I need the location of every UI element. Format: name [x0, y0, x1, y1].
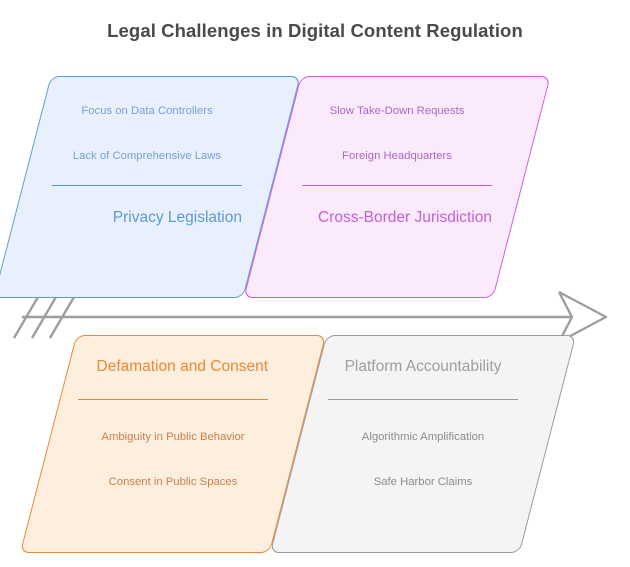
card-defamation-item-1: Ambiguity in Public Behavior [78, 430, 268, 445]
card-defamation-and-consent[interactable]: Defamation and Consent Ambiguity in Publ… [48, 335, 298, 553]
spacer [78, 400, 268, 430]
card-platform-heading: Platform Accountability [328, 357, 518, 377]
card-platform-item-2: Safe Harbor Claims [328, 475, 518, 490]
card-defamation-heading: Defamation and Consent [78, 357, 268, 377]
spacer [52, 119, 242, 149]
card-privacy-item-1: Focus on Data Controllers [52, 104, 242, 119]
diagram-canvas: Legal Challenges in Digital Content Regu… [0, 0, 630, 567]
card-privacy-heading: Privacy Legislation [52, 208, 242, 228]
spacer [328, 445, 518, 475]
spacer [78, 377, 268, 399]
card-privacy-legislation[interactable]: Focus on Data Controllers Lack of Compre… [22, 76, 272, 298]
arrow-fletching-icon [14, 297, 74, 338]
spacer [52, 163, 242, 185]
spacer [302, 163, 492, 185]
card-jurisdiction-item-2: Foreign Headquarters [302, 149, 492, 164]
spacer [52, 186, 242, 208]
card-platform-item-1: Algorithmic Amplification [328, 430, 518, 445]
card-jurisdiction-item-1: Slow Take-Down Requests [302, 104, 492, 119]
card-defamation-item-2: Consent in Public Spaces [78, 475, 268, 490]
spacer [328, 400, 518, 430]
spacer [78, 445, 268, 475]
spacer [328, 377, 518, 399]
card-cross-border-jurisdiction[interactable]: Slow Take-Down Requests Foreign Headquar… [272, 76, 522, 298]
spacer [302, 119, 492, 149]
page-title: Legal Challenges in Digital Content Regu… [0, 20, 630, 42]
card-privacy-item-2: Lack of Comprehensive Laws [52, 149, 242, 164]
spacer [302, 186, 492, 208]
card-platform-accountability[interactable]: Platform Accountability Algorithmic Ampl… [298, 335, 548, 553]
card-jurisdiction-heading: Cross-Border Jurisdiction [302, 208, 492, 228]
